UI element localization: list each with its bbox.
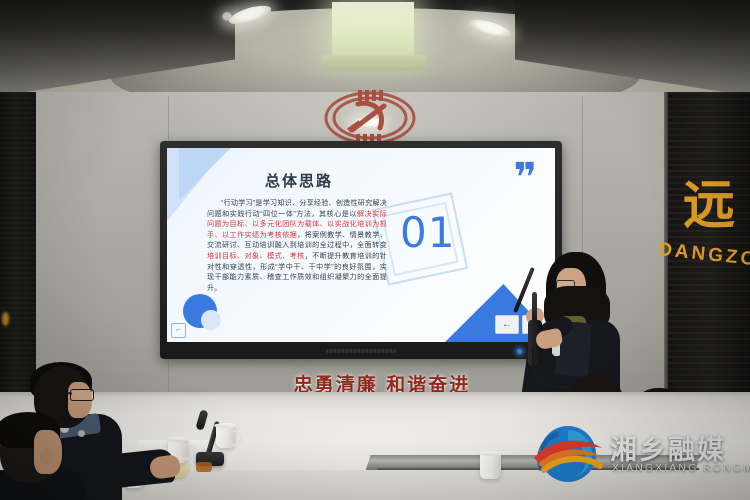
cup-lid [478,451,503,456]
slide-section-number: 01 [400,208,490,257]
wall-light-reflection [2,312,9,326]
slide-decor-circle-small [201,310,221,330]
ceiling-skylight-panel [332,2,414,57]
wood-grain-texture [0,92,36,392]
cpc-emblem-icon [322,88,418,146]
interactive-display-panel[interactable]: ❞ 01 总体思路 “行动学习”是学习知识、分享经验、创造性研究解决问题和实践行… [160,141,562,359]
ceiling-light-icon [222,12,232,21]
table-edge [0,392,750,397]
attendee-ear [40,448,53,465]
broadcaster-watermark: 湘乡融媒 XIANGXIANG RONGMEI [528,424,746,488]
xiangxiang-rongmei-logo-icon [528,424,614,486]
attendee-uniform-badge [78,430,85,437]
display-bezel-bottom [160,342,562,359]
tea-cup [480,452,501,479]
ceiling [0,0,750,96]
attendee-glasses-icon [70,389,94,401]
cup-lid [214,423,237,428]
watermark-text-en: XIANGXIANG RONGMEI [612,462,750,474]
slide-screen[interactable]: ❞ 01 总体思路 “行动学习”是学习知识、分享经验、创造性研究解决问题和实践行… [167,148,555,342]
microphone-base-accent [196,462,212,472]
cup-lid [166,437,190,442]
wall-panel-left [0,92,36,392]
display-speaker-grille [326,349,396,353]
slide-body-highlight: 培训目标、对象、模式、考核 [207,252,305,260]
slide-prev-button[interactable]: ← [495,315,519,334]
slide-title-text: 总体思路 [265,170,333,191]
slide-body-text: “行动学习”是学习知识、分享经验、创造性研究解决问题和实践行动“四位一体”方法，… [207,198,387,293]
slide-corner-icon: ⌐ [171,323,186,338]
display-power-led-icon [517,349,522,354]
wall-chinese-character: 远 [674,175,744,241]
conference-room-photo: 远 DANGZOU [0,0,750,500]
slide-title: 总体思路 [167,170,555,191]
ceiling-skylight-lip [322,55,426,71]
tea-cup [216,424,235,448]
